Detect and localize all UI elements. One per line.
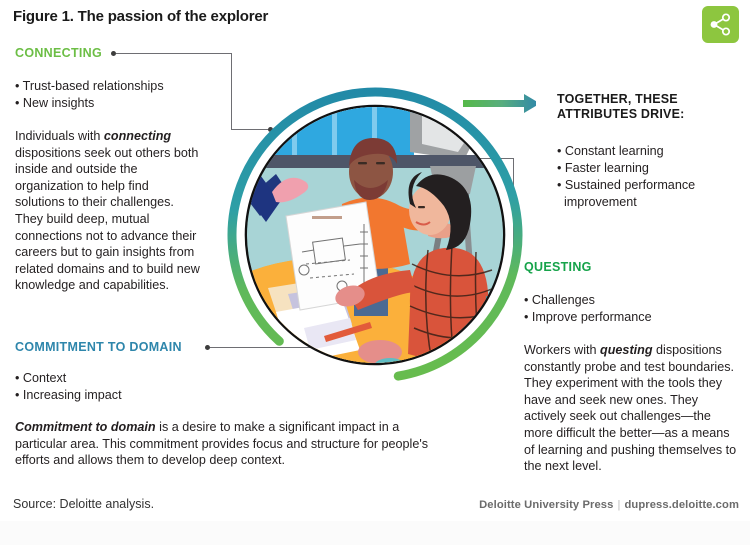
connector-line-connecting-h1 bbox=[116, 53, 231, 54]
publisher-credit: Deloitte University Press|dupress.deloit… bbox=[479, 499, 739, 511]
list-item: improvement bbox=[557, 194, 695, 211]
section-heading-commitment: COMMITMENT TO DOMAIN bbox=[15, 340, 182, 354]
paragraph-questing-emphasis: questing bbox=[600, 343, 652, 357]
share-icon bbox=[709, 13, 732, 36]
explorer-illustration-svg bbox=[214, 74, 536, 396]
source-note: Source: Deloitte analysis. bbox=[13, 497, 154, 511]
list-item: • Increasing impact bbox=[15, 387, 122, 404]
section-heading-connecting: CONNECTING bbox=[15, 46, 102, 60]
man-eye-left bbox=[358, 162, 367, 164]
list-item: • Trust-based relationships bbox=[15, 78, 164, 95]
central-illustration bbox=[214, 74, 536, 396]
paragraph-questing: Workers with questing dispositions const… bbox=[524, 342, 738, 475]
bottom-band bbox=[0, 521, 750, 545]
list-item: • Sustained performance bbox=[557, 177, 695, 194]
paragraph-connecting-lead: Individuals with bbox=[15, 129, 104, 143]
section-heading-together-line2: ATTRIBUTES DRIVE: bbox=[557, 107, 684, 122]
man-eye-right bbox=[376, 162, 385, 164]
publisher-url[interactable]: dupress.deloitte.com bbox=[624, 499, 739, 511]
page-title: Figure 1. The passion of the explorer bbox=[13, 8, 268, 25]
bullet-list-questing: • Challenges • Improve performance bbox=[524, 292, 652, 326]
publisher-name: Deloitte University Press bbox=[479, 499, 613, 511]
share-button[interactable] bbox=[702, 6, 739, 43]
figure-container: Figure 1. The passion of the explorer CO… bbox=[0, 0, 750, 545]
outgoing-arrow bbox=[463, 94, 536, 113]
section-heading-together: TOGETHER, THESE ATTRIBUTES DRIVE: bbox=[557, 92, 684, 122]
paragraph-commitment-emphasis: Commitment to domain bbox=[15, 420, 156, 434]
list-item: • Challenges bbox=[524, 292, 652, 309]
blueprint-label bbox=[312, 216, 342, 219]
list-item: • Context bbox=[15, 370, 122, 387]
paragraph-connecting-rest: dispositions seek out others both inside… bbox=[15, 146, 200, 293]
publisher-separator: | bbox=[613, 499, 624, 511]
window-mullion bbox=[332, 107, 337, 155]
paragraph-connecting: Individuals with connecting dispositions… bbox=[15, 128, 200, 294]
paragraph-connecting-emphasis: connecting bbox=[104, 129, 171, 143]
list-item: • New insights bbox=[15, 95, 164, 112]
bullet-list-connecting: • Trust-based relationships • New insigh… bbox=[15, 78, 164, 112]
list-item: • Constant learning bbox=[557, 143, 695, 160]
woman-eye bbox=[418, 206, 425, 208]
section-heading-together-line1: TOGETHER, THESE bbox=[557, 92, 684, 107]
bullet-list-commitment: • Context • Increasing impact bbox=[15, 370, 122, 404]
paragraph-commitment: Commitment to domain is a desire to make… bbox=[15, 419, 452, 469]
list-item: • Improve performance bbox=[524, 309, 652, 326]
paragraph-questing-rest: dispositions constantly probe and test b… bbox=[524, 343, 736, 473]
bullet-list-together: • Constant learning • Faster learning • … bbox=[557, 143, 695, 211]
list-item: • Faster learning bbox=[557, 160, 695, 177]
